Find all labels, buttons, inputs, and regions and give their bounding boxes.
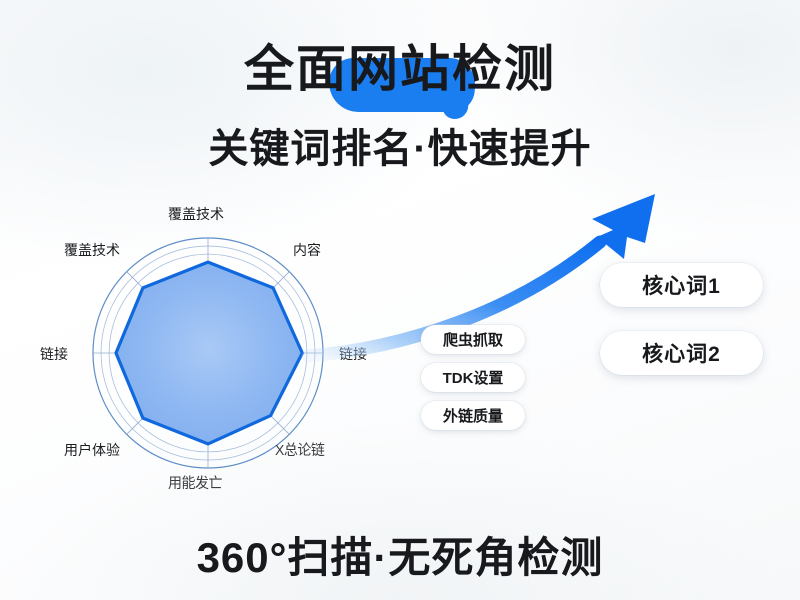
radar-data-polygon [116,262,302,444]
tag-pill-tdk[interactable]: TDK设置 [421,363,525,392]
keyword-pill-2[interactable]: 核心词2 [600,331,763,375]
page-subtitle: 关键词排名·快速提升 [0,116,800,174]
radar-axis-label-left: 链接 [40,344,68,364]
poster-canvas: 全面网站检测 关键词排名·快速提升 覆盖技术 内容 链接 X总论链 用能发亡 用… [0,0,800,600]
page-title: 全面网站检测 [0,34,800,104]
keyword-pill-1[interactable]: 核心词1 [600,263,763,307]
radar-axis-label-bottom-right: X总论链 [275,440,324,461]
radar-axis-label-top-left: 覆盖技术 [64,240,120,260]
radar-axis-label-top: 覆盖技术 [168,204,224,224]
footer-slogan: 360°扫描·无死角检测 [0,524,800,585]
radar-axis-label-bottom-left: 用户体验 [64,440,120,460]
headline-group: 全面网站检测 [0,34,800,104]
radar-axis-label-bottom: 用能发亡 [168,473,222,494]
tag-pill-backlink[interactable]: 外链质量 [421,401,525,430]
tag-pill-crawl[interactable]: 爬虫抓取 [421,325,525,354]
